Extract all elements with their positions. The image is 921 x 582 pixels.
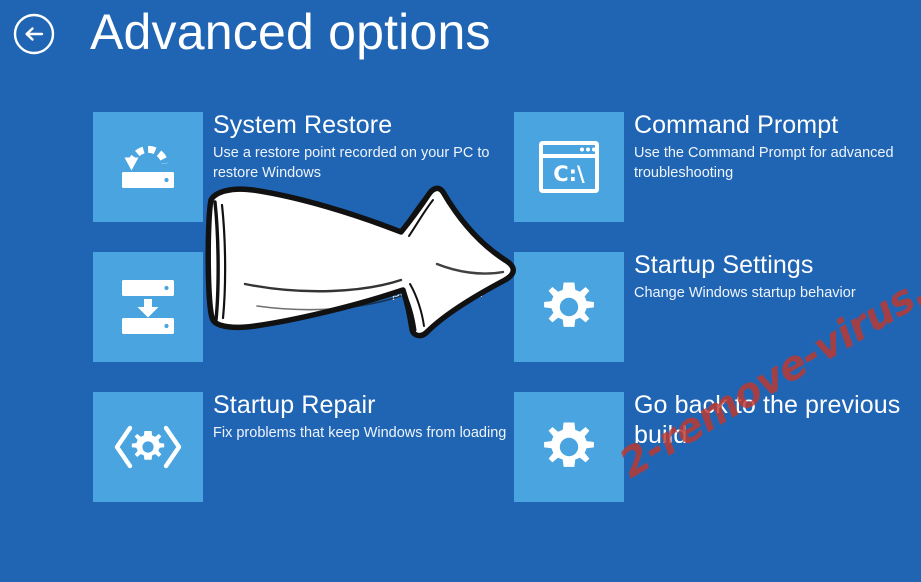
tile-description: Use a restore point recorded on your PC … bbox=[213, 143, 509, 183]
tile-title: Startup Repair bbox=[213, 390, 509, 420]
tile-text-block: System Restore Use a restore point recor… bbox=[213, 110, 509, 183]
tile-description: Change Windows startup behavior bbox=[634, 283, 921, 303]
tile-title: System Image Recovery bbox=[213, 250, 509, 280]
tile-system-image-recovery[interactable]: System Image Recovery Recover Windows us… bbox=[93, 252, 513, 362]
svg-text:C:\: C:\ bbox=[553, 162, 585, 186]
back-button[interactable] bbox=[12, 12, 56, 56]
tile-icon-box: C:\ bbox=[514, 112, 624, 222]
tile-description: Recover Windows using a specific system … bbox=[213, 283, 509, 323]
tile-startup-repair[interactable]: Startup Repair Fix problems that keep Wi… bbox=[93, 392, 513, 502]
page-title: Advanced options bbox=[90, 3, 491, 61]
tile-title: Command Prompt bbox=[634, 110, 921, 140]
tile-icon-box bbox=[93, 392, 203, 502]
tile-text-block: Go back to the previous build bbox=[634, 390, 921, 453]
tile-title: Startup Settings bbox=[634, 250, 921, 280]
tile-description: Fix problems that keep Windows from load… bbox=[213, 423, 509, 443]
page-header: Advanced options bbox=[0, 0, 921, 80]
tile-title: Go back to the previous build bbox=[634, 390, 921, 450]
tile-text-block: Startup Repair Fix problems that keep Wi… bbox=[213, 390, 509, 443]
advanced-options-tile-grid: System Restore Use a restore point recor… bbox=[93, 112, 921, 512]
tile-text-block: System Image Recovery Recover Windows us… bbox=[213, 250, 509, 323]
back-arrow-circle-icon bbox=[12, 12, 56, 56]
tile-icon-box bbox=[93, 252, 203, 362]
tile-startup-settings[interactable]: Startup Settings Change Windows startup … bbox=[514, 252, 921, 362]
tile-go-back-previous-build[interactable]: Go back to the previous build bbox=[514, 392, 921, 502]
tile-icon-box bbox=[93, 112, 203, 222]
tile-description: Use the Command Prompt for advanced trou… bbox=[634, 143, 921, 183]
tile-icon-box bbox=[514, 252, 624, 362]
tile-text-block: Command Prompt Use the Command Prompt fo… bbox=[634, 110, 921, 183]
tile-icon-box bbox=[514, 392, 624, 502]
tile-text-block: Startup Settings Change Windows startup … bbox=[634, 250, 921, 303]
tile-system-restore[interactable]: System Restore Use a restore point recor… bbox=[93, 112, 513, 222]
tile-title: System Restore bbox=[213, 110, 509, 140]
tile-command-prompt[interactable]: C:\ Command Prompt Use the Command Promp… bbox=[514, 112, 921, 222]
